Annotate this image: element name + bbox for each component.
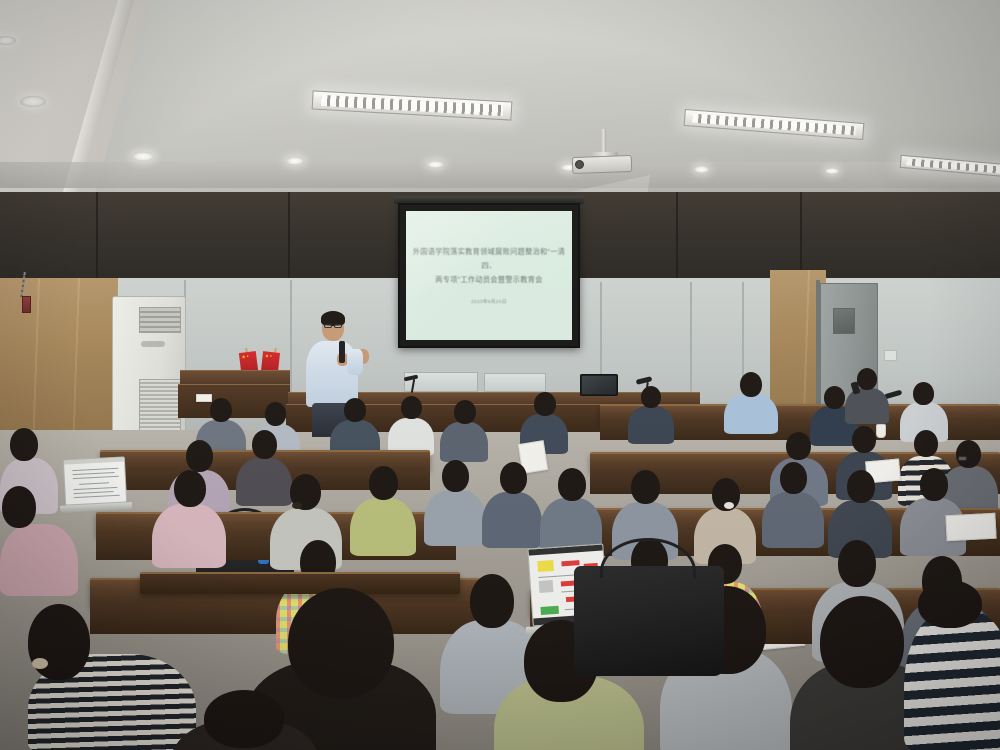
ceiling-light-icon [694, 166, 709, 173]
handout-paper [945, 513, 996, 542]
slide-date: 2023年6月20日 [406, 299, 572, 305]
attendee-head [442, 460, 469, 492]
attendee-head [344, 398, 366, 422]
desk-label [196, 394, 212, 402]
monitor-icon[interactable] [580, 374, 618, 396]
attendee-head [824, 386, 845, 409]
ceiling-light-icon [427, 161, 444, 168]
attendee-head [369, 466, 398, 500]
attendee-body [350, 498, 416, 556]
wall-seam [288, 192, 290, 282]
attendee-head [852, 426, 876, 453]
attendee-body [236, 458, 292, 506]
attendee-head [470, 574, 514, 628]
ac-logo [141, 341, 165, 347]
lecture-hall-photo: 外国语学院落实教育领域腐败问题整治和“一清四、 两专项”工作动员会暨警示教育会 … [0, 0, 1000, 750]
attendee-body [152, 504, 226, 568]
wood-wall-panel-left [0, 278, 118, 438]
wall-seam [676, 192, 678, 282]
attendee-head [913, 382, 934, 405]
ceiling-light-icon [825, 168, 839, 174]
wall-seam [96, 192, 98, 282]
laptop-titlebar [64, 457, 124, 464]
microphone-icon [339, 341, 345, 363]
attendee-body [440, 422, 488, 462]
paper-cup [876, 424, 886, 438]
attendee-head [918, 580, 982, 628]
attendee-head [631, 470, 660, 504]
attendee-head [174, 470, 206, 507]
desk-row [140, 572, 460, 594]
attendee-head [10, 428, 38, 461]
bag-icon [574, 566, 724, 676]
document-line [73, 472, 115, 475]
hair-clip-icon [724, 502, 734, 509]
attendee-body [762, 492, 824, 548]
attendee-body [845, 388, 889, 424]
flag-star: ★ [246, 354, 249, 359]
glasses-icon [324, 324, 332, 328]
attendee-head [780, 462, 807, 494]
attendee-head [204, 690, 284, 748]
glasses-icon [334, 324, 342, 328]
ac-vent-bottom [139, 379, 181, 437]
desk-panel [484, 373, 546, 392]
attendee-head [210, 398, 232, 422]
attendee-head [786, 432, 811, 460]
attendee-head [857, 368, 877, 390]
document-line [74, 495, 120, 498]
attendee-head [558, 468, 586, 501]
ceiling-light-icon [132, 152, 154, 161]
attendee-body [0, 524, 78, 596]
attendee-head [820, 596, 904, 688]
attendee-head [186, 440, 213, 472]
document-line [74, 491, 114, 494]
hair-tie-icon [292, 502, 302, 509]
ceiling-band [0, 162, 1000, 188]
attendee-head [265, 402, 286, 426]
attendee-head [454, 400, 476, 424]
attendee-head [401, 396, 422, 419]
attendee-body [904, 610, 1000, 750]
hair-tie-icon [32, 658, 48, 669]
attendee-head [920, 468, 948, 501]
attendee-head [740, 372, 762, 397]
attendee-head [914, 430, 938, 457]
attendee-body [628, 406, 674, 444]
attendee-head [252, 430, 277, 459]
highlight-cell [537, 560, 554, 572]
attendee-head [956, 440, 981, 468]
highlight-cell [561, 560, 579, 566]
attendee-head [2, 486, 36, 528]
light-switch-icon[interactable] [884, 350, 897, 361]
attendee-head [847, 470, 875, 503]
presentation-slide: 外国语学院落实教育领域腐败问题整治和“一清四、 两专项”工作动员会暨警示教育会 … [406, 211, 572, 340]
slide-swoosh-overlay [406, 278, 572, 340]
wall-sign-icon [22, 296, 31, 313]
ceiling-light-icon [20, 96, 46, 107]
flag-star: ★ [269, 354, 272, 359]
air-conditioner-icon[interactable] [112, 296, 186, 446]
attendee-body [724, 394, 778, 434]
ac-vent-top [139, 307, 181, 333]
attendee-head [838, 540, 876, 587]
slide-title-line2: 两专项”工作动员会暨警示教育会 [410, 273, 568, 287]
document-line [72, 468, 118, 471]
attendee-body [482, 492, 542, 548]
attendee-head [288, 588, 394, 698]
slide-title-line1: 外国语学院落实教育领域腐败问题整治和“一清四、 [410, 245, 568, 273]
projection-screen: 外国语学院落实教育领域腐败问题整治和“一清四、 两专项”工作动员会暨警示教育会 … [398, 203, 580, 348]
document-line [73, 487, 117, 490]
wall-seam [800, 192, 802, 282]
document-line [73, 476, 119, 479]
attendee-head [534, 392, 556, 416]
attendee-head [500, 462, 527, 494]
speaker-arm [347, 349, 363, 375]
ceiling-light-icon [286, 157, 304, 165]
glasses-icon [958, 456, 967, 461]
highlight-cell [540, 606, 559, 615]
table-cell [539, 580, 554, 593]
slide-title: 外国语学院落实教育领域腐败问题整治和“一清四、 两专项”工作动员会暨警示教育会 [410, 245, 568, 287]
projector-lens-icon [575, 160, 584, 169]
attendee-head [641, 386, 661, 408]
door-window [833, 308, 855, 334]
attendee-body [424, 490, 486, 546]
laptop-icon[interactable] [63, 456, 127, 505]
document-line [79, 482, 109, 485]
